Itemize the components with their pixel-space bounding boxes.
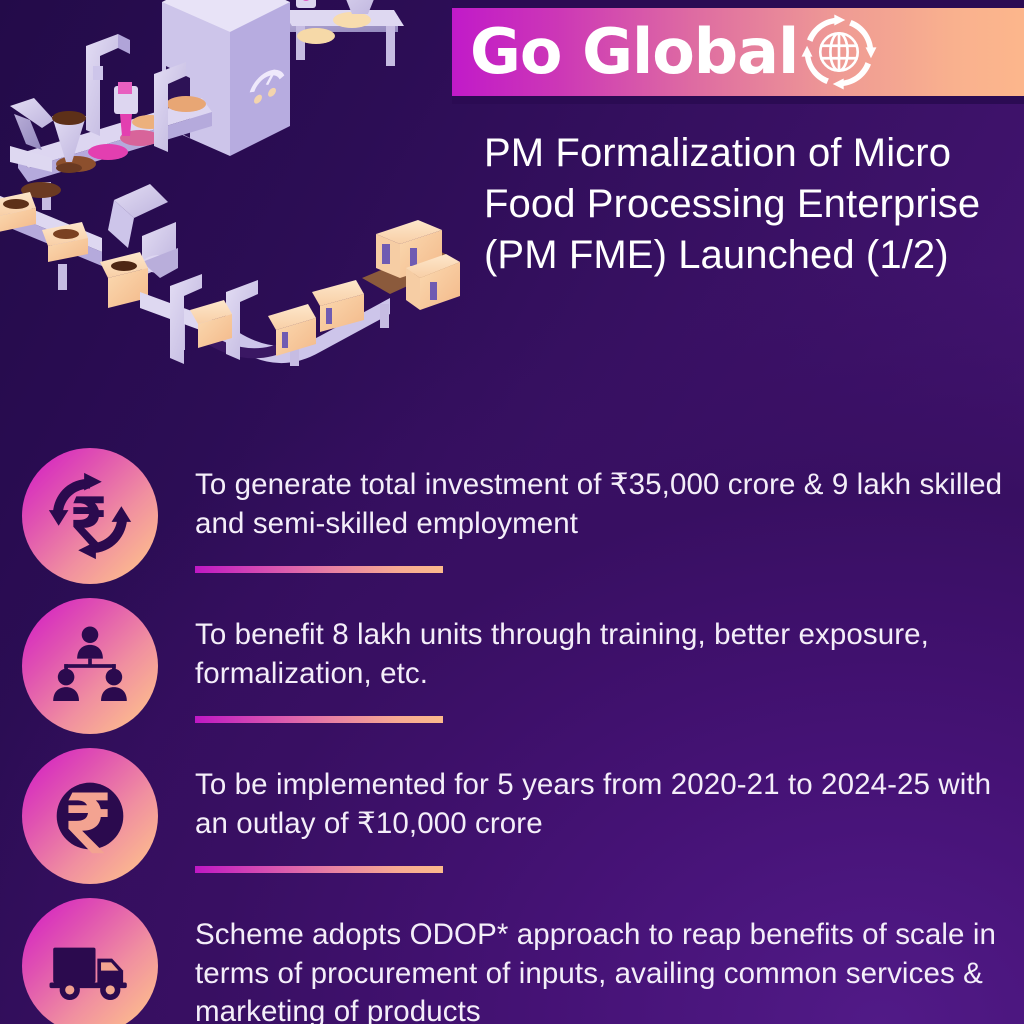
divider xyxy=(195,866,443,873)
pallet-stack xyxy=(362,220,460,310)
list-item-text: To generate total investment of ₹35,000 … xyxy=(195,466,1007,543)
org-hierarchy-people-icon xyxy=(22,598,158,734)
infographic-poster: Go Global xyxy=(0,0,1024,1024)
factory-illustration xyxy=(0,0,460,416)
list-item-text: Scheme adopts ODOP* approach to reap ben… xyxy=(195,916,1007,1024)
go-global-banner: Go Global xyxy=(452,0,1024,104)
rupee-cycle-icon xyxy=(22,448,158,584)
banner-title: Go Global xyxy=(470,21,798,83)
delivery-truck-icon xyxy=(22,898,158,1024)
rupee-coin-icon xyxy=(22,748,158,884)
page-title: PM Formalization of Micro Food Processin… xyxy=(484,128,1014,282)
list-item: To be implemented for 5 years from 2020-… xyxy=(0,744,1024,894)
bullet-list: To generate total investment of ₹35,000 … xyxy=(0,444,1024,1024)
conveyor-top xyxy=(282,10,404,66)
divider xyxy=(195,716,443,723)
list-item: To benefit 8 lakh units through training… xyxy=(0,594,1024,744)
list-item: To generate total investment of ₹35,000 … xyxy=(0,444,1024,594)
banner-inner: Go Global xyxy=(452,8,1024,96)
divider xyxy=(195,566,443,573)
list-item-text: To benefit 8 lakh units through training… xyxy=(195,616,1007,693)
list-item: Scheme adopts ODOP* approach to reap ben… xyxy=(0,894,1024,1024)
list-item-text: To be implemented for 5 years from 2020-… xyxy=(195,766,1007,843)
globe-exchange-icon xyxy=(800,13,878,91)
conveyor-packaging xyxy=(140,274,390,366)
